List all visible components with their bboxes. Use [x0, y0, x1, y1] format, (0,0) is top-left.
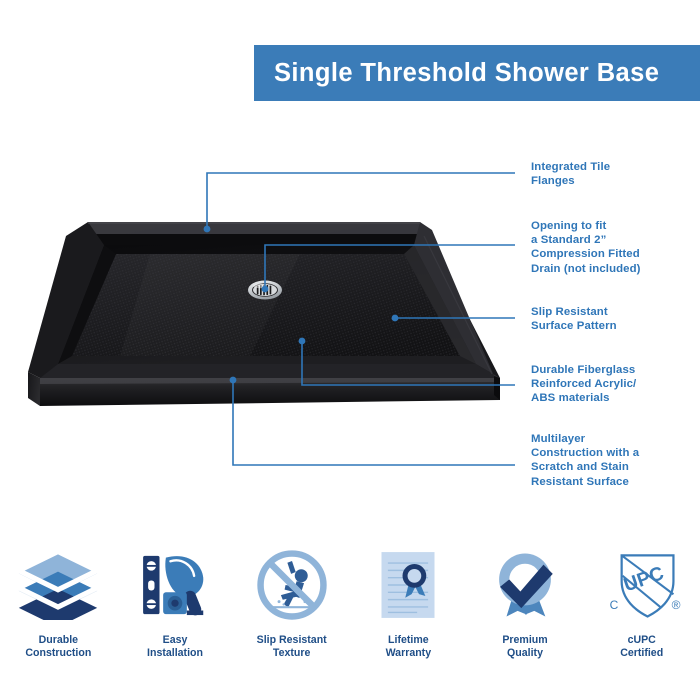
feature-label: Durable Construction: [25, 634, 91, 661]
feature-slip-resistant-texture: Slip Resistant Texture: [233, 540, 350, 700]
feature-cupc-certified: UPC C ® cUPC Certified: [583, 540, 700, 700]
callout-label-integrated-tile-flanges: Integrated Tile Flanges: [531, 160, 610, 188]
page-title: Single Threshold Shower Base: [254, 59, 659, 88]
infographic-root: Single Threshold Shower Base: [0, 0, 700, 700]
layers-icon: [15, 546, 101, 624]
person-arm-up: [287, 561, 295, 574]
upc-prefix-c: C: [609, 598, 618, 612]
left-side-face: [28, 372, 40, 406]
back-flange-shadow: [92, 234, 428, 245]
header-banner: Single Threshold Shower Base: [254, 45, 700, 101]
no-slip-icon: [249, 546, 335, 624]
upc-registered-mark: ®: [671, 598, 680, 612]
feature-label: Premium Quality: [502, 634, 547, 661]
feature-premium-quality: Premium Quality: [467, 540, 584, 700]
feature-durable-construction: Durable Construction: [0, 540, 117, 700]
level-trowel-icon: [132, 546, 218, 624]
callout-label-multilayer-construction: Multilayer Construction with a Scratch a…: [531, 432, 639, 489]
feature-lifetime-warranty: Lifetime Warranty: [350, 540, 467, 700]
warranty-doc-icon: [365, 546, 451, 624]
drain-gloss: [253, 284, 267, 288]
feature-badge-row: Durable Construction: [0, 540, 700, 700]
back-flange: [88, 222, 424, 234]
tape-measure-hub: [171, 600, 178, 607]
level-vial-bottom-line: [146, 603, 156, 605]
feature-label: Easy Installation: [147, 634, 203, 661]
feature-label: Lifetime Warranty: [386, 634, 432, 661]
upc-shield-icon: UPC C ®: [599, 546, 685, 624]
feature-easy-installation: Easy Installation: [117, 540, 234, 700]
level-vial-top-line: [146, 565, 156, 567]
shower-base-body: [28, 222, 500, 406]
callout-label-drain-opening: Opening to fit a Standard 2” Compression…: [531, 219, 641, 276]
product-illustration: [0, 150, 520, 440]
feature-label: Slip Resistant Texture: [257, 634, 327, 661]
callout-label-slip-resistant-surface: Slip Resistant Surface Pattern: [531, 305, 617, 333]
drain-cover: [248, 281, 282, 300]
callout-label-durable-materials: Durable Fiberglass Reinforced Acrylic/ A…: [531, 363, 636, 406]
person-head: [294, 569, 307, 582]
seal-medal-inner: [408, 569, 422, 583]
tape-measure-blade: [187, 611, 203, 616]
threshold-top: [40, 364, 500, 378]
level-vial-mid: [148, 580, 154, 590]
upc-text: UPC: [620, 562, 666, 596]
check-rosette-icon: [482, 546, 568, 624]
feature-label: cUPC Certified: [620, 634, 663, 661]
